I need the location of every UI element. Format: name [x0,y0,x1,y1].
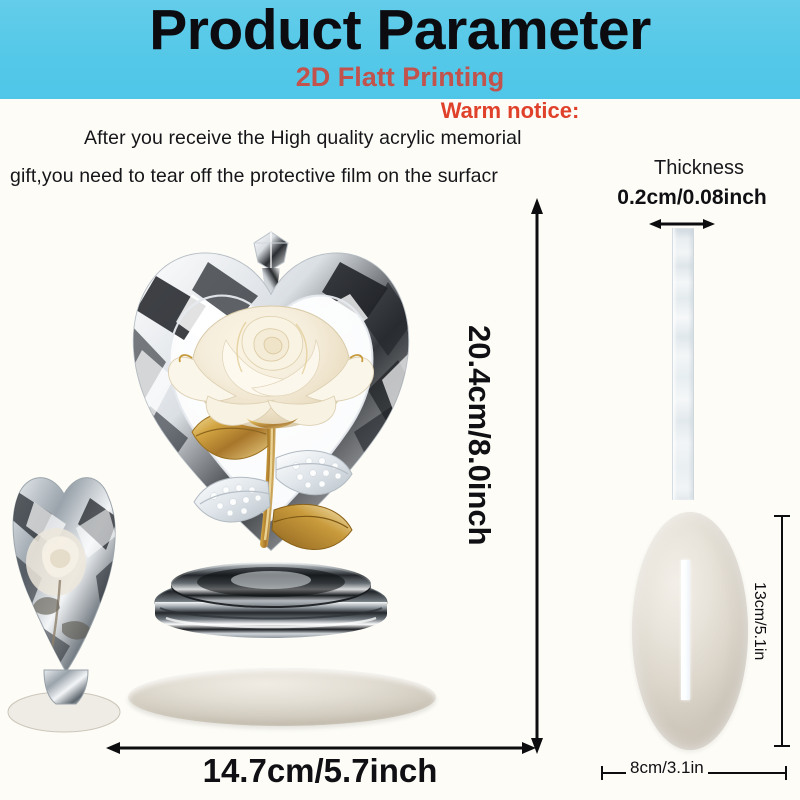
page-title: Product Parameter [0,0,800,62]
thickness-label: Thickness [604,157,794,180]
notice-line-1: After you receive the High quality acryl… [84,127,522,150]
header-banner: Product Parameter 2D Flatt Printing [0,0,800,99]
base-height-dimension-arrow [774,512,790,750]
side-heart-body [6,478,124,672]
side-view-illustration [4,458,126,740]
base-width-label: 8cm/3.1in [626,758,708,778]
heart-ornament-illustration [96,210,446,660]
warm-notice-heading: Warm notice: [420,98,600,124]
oval-base-slot [681,560,690,700]
oval-stand-base [632,512,748,750]
base-height-label: 13cm/5.1in [750,582,768,660]
heart-crystal-rose-ornament [96,210,446,660]
chrome-base [155,562,387,638]
width-dimension-label: 14.7cm/5.7inch [120,752,520,790]
notice-line-2: gift,you need to tear off the protective… [10,165,498,188]
heart-crystal-rose-side-view [4,458,126,740]
acrylic-thickness-strip [672,228,694,500]
oval-base-plate [128,668,436,726]
banner-subtitle: 2D Flatt Printing [0,61,800,93]
product-parameter-page: Product Parameter 2D Flatt Printing Warm… [0,0,800,800]
vertical-dimension-arrow [524,198,550,754]
height-dimension-label: 20.4cm/8.0inch [461,325,497,546]
thickness-value: 0.2cm/0.08inch [584,186,800,210]
